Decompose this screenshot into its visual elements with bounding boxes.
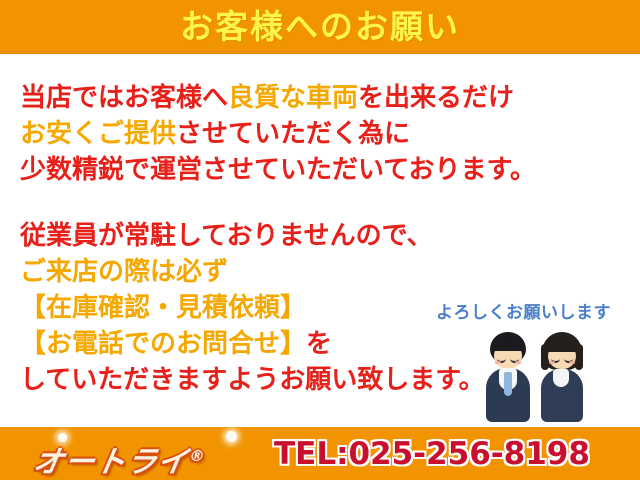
p1l3-seg1: 少数精鋭で運営させていただいております。: [20, 155, 536, 185]
advertisement-poster: お客様へのお願い 当店ではお客様へ良質な車両を出来るだけ お安くご提供させていた…: [0, 0, 640, 480]
registered-mark-icon: ®: [188, 447, 207, 465]
sparkle-icon-right: [226, 431, 237, 442]
phone-number: TEL:025-256-8198: [274, 436, 590, 472]
businesswoman-figure-icon: [536, 330, 588, 422]
p1l1-seg1: 当店ではお客様へ: [20, 83, 228, 113]
paragraph-two-line-2: ご来店の際は必ず: [20, 254, 620, 290]
man-fringe: [491, 339, 525, 351]
man-cheek-left: [495, 361, 501, 364]
p2l4-seg1-highlight: 【お電話でのお問合せ】: [20, 329, 306, 359]
company-logo-text: オートライ: [30, 445, 191, 480]
paragraph-one: 当店ではお客様へ良質な車両を出来るだけ お安くご提供させていただく為に 少数精鋭…: [20, 80, 620, 188]
p2l4-seg2: を: [306, 329, 332, 359]
woman-fringe: [543, 340, 581, 352]
businessman-figure-icon: [482, 330, 534, 422]
paragraph-one-line-3: 少数精鋭で運営させていただいております。: [20, 152, 620, 188]
company-logo: オートライ®: [30, 437, 209, 480]
greeting-text: よろしくお願いします: [436, 298, 611, 323]
man-necktie: [504, 372, 512, 396]
p1l2-seg1-highlight: お安くご提供: [20, 119, 176, 149]
p1l2-seg2: させていただく為に: [176, 119, 410, 149]
woman-blouse: [553, 369, 569, 387]
paragraph-one-line-2: お安くご提供させていただく為に: [20, 116, 620, 152]
page-title: お客様へのお願い: [0, 5, 640, 49]
man-cheek-right: [515, 361, 521, 364]
bowing-people-illustration: [482, 330, 592, 422]
woman-cheek-right: [569, 361, 575, 364]
paragraph-one-line-1: 当店ではお客様へ良質な車両を出来るだけ: [20, 80, 620, 116]
p1l1-seg3: を出来るだけ: [358, 83, 514, 113]
woman-cheek-left: [549, 361, 555, 364]
sparkle-icon-left: [58, 433, 67, 442]
p1l1-seg2-highlight: 良質な車両: [228, 83, 358, 113]
paragraph-two-line-1: 従業員が常駐しておりませんので、: [20, 218, 620, 254]
